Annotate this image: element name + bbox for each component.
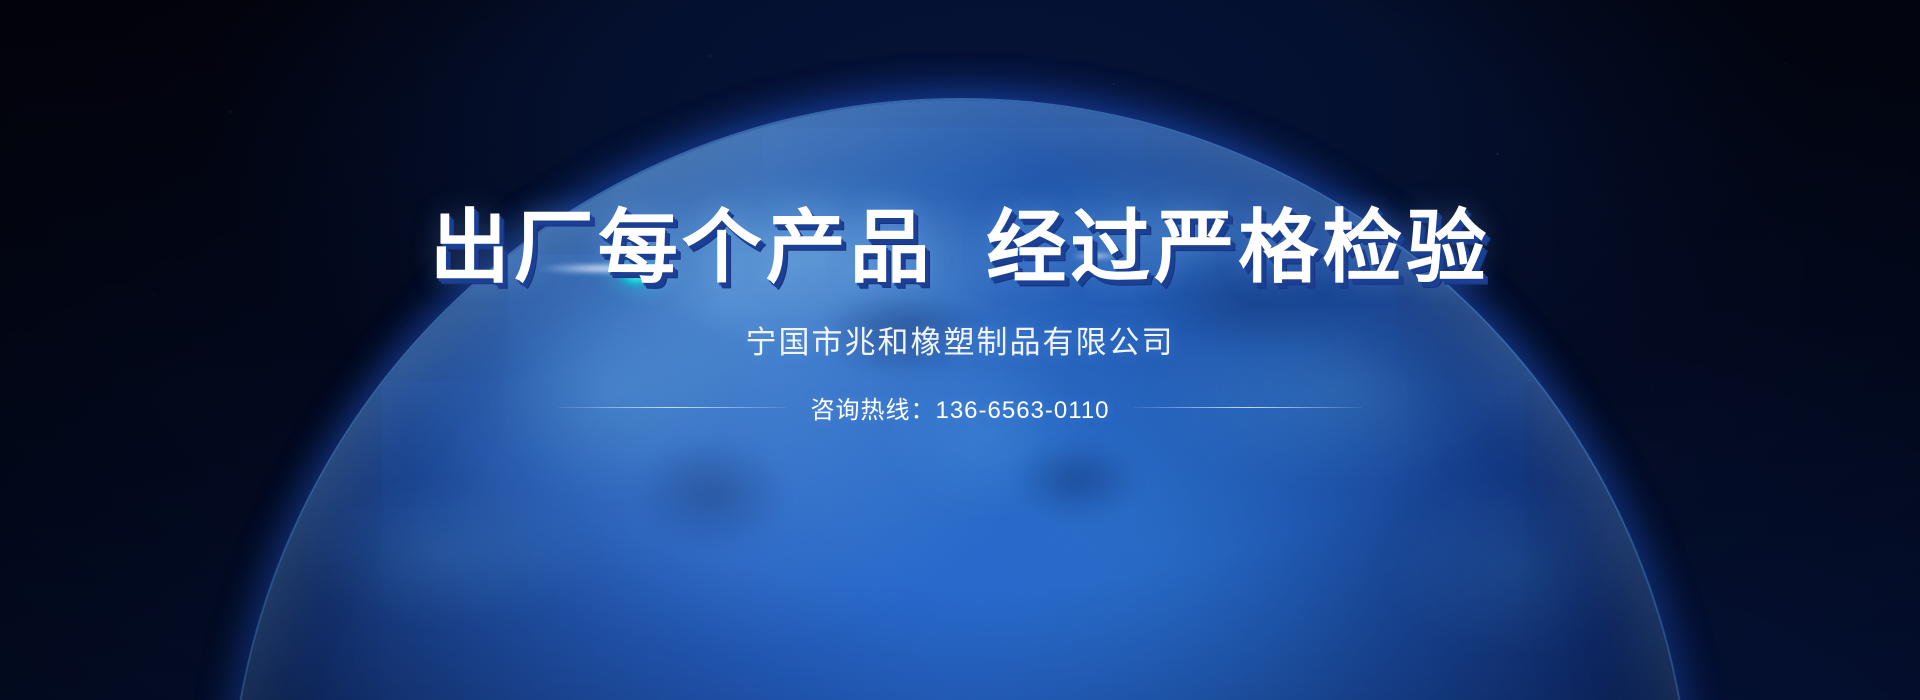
company-name: 宁国市兆和橡塑制品有限公司 <box>746 317 1175 362</box>
divider-right <box>1134 407 1362 408</box>
hotline-row: 咨询热线：136-6563-0110 <box>558 390 1361 425</box>
hotline-text: 咨询热线：136-6563-0110 <box>810 390 1109 425</box>
banner-content: 出厂每个产品 经过严格检验 宁国市兆和橡塑制品有限公司 咨询热线：136-656… <box>0 0 1920 700</box>
hero-banner: 出厂每个产品 经过严格检验 宁国市兆和橡塑制品有限公司 咨询热线：136-656… <box>0 0 1920 700</box>
banner-headline: 出厂每个产品 经过严格检验 <box>430 206 1490 291</box>
divider-left <box>558 407 786 408</box>
